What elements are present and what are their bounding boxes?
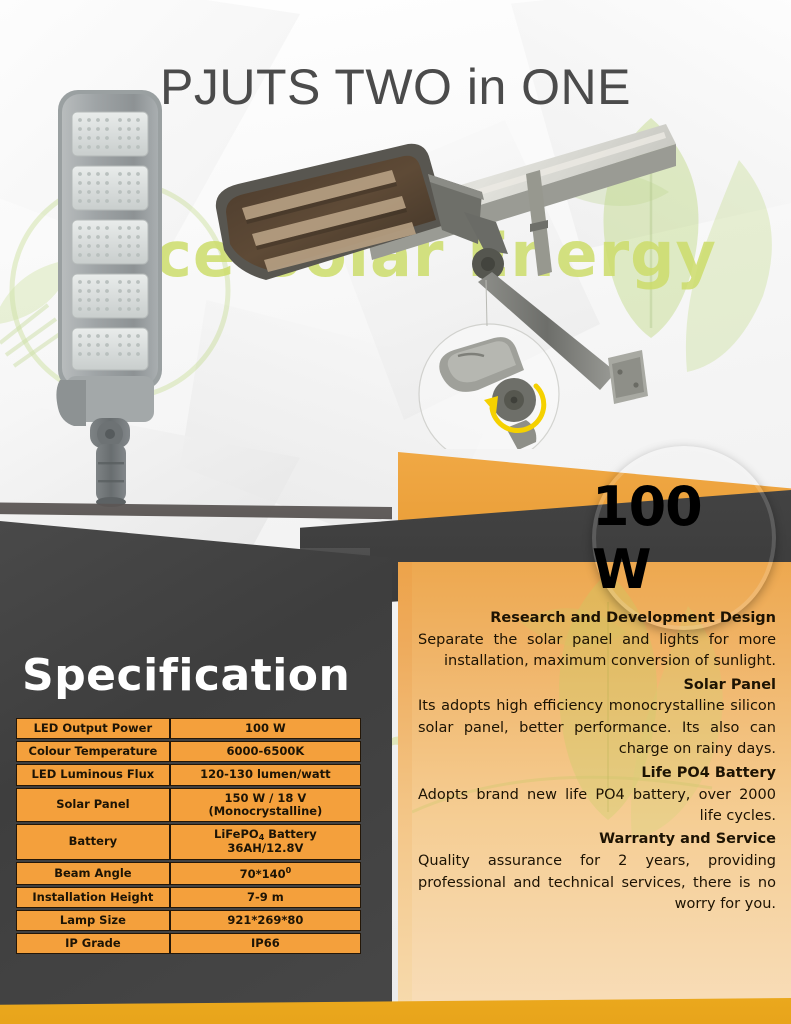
specification-table-body: LED Output Power100 WColour Temperature6… bbox=[16, 718, 361, 954]
table-row: Colour Temperature6000-6500K bbox=[16, 741, 361, 762]
spec-key: Beam Angle bbox=[16, 862, 170, 885]
feature-heading: Warranty and Service bbox=[418, 829, 776, 851]
feature-body: Adopts brand new life PO4 battery, over … bbox=[418, 785, 776, 828]
table-row: Solar Panel150 W / 18 V (Monocrystalline… bbox=[16, 788, 361, 822]
spec-value: 120-130 lumen/watt bbox=[170, 764, 361, 785]
spec-key: LED Output Power bbox=[16, 718, 170, 739]
spec-value: 100 W bbox=[170, 718, 361, 739]
table-row: Beam Angle70*1400 bbox=[16, 862, 361, 885]
spec-key: Installation Height bbox=[16, 887, 170, 908]
street-light-product-image bbox=[42, 84, 178, 514]
feature-heading: Solar Panel bbox=[418, 675, 776, 697]
feature-heading: Life PO4 Battery bbox=[418, 763, 776, 785]
spec-value: 921*269*80 bbox=[170, 910, 361, 931]
spec-key: Battery bbox=[16, 824, 170, 859]
spec-key: Solar Panel bbox=[16, 788, 170, 822]
page-title: PJUTS TWO in ONE bbox=[0, 58, 791, 116]
table-row: Lamp Size921*269*80 bbox=[16, 910, 361, 931]
wattage-badge-label: 100 W bbox=[592, 475, 776, 601]
spec-value: IP66 bbox=[170, 933, 361, 954]
spec-key: Colour Temperature bbox=[16, 741, 170, 762]
datasheet-page: Nice Solar Energy PJUTS TWO in ONE bbox=[0, 0, 791, 1024]
table-row: IP GradeIP66 bbox=[16, 933, 361, 954]
spec-key: Lamp Size bbox=[16, 910, 170, 931]
spec-key: IP Grade bbox=[16, 933, 170, 954]
wattage-badge: 100 W bbox=[592, 446, 776, 630]
spec-value: 150 W / 18 V (Monocrystalline) bbox=[170, 788, 361, 822]
table-row: LED Luminous Flux120-130 lumen/watt bbox=[16, 764, 361, 785]
spec-value: 70*1400 bbox=[170, 862, 361, 885]
spec-value: 7-9 m bbox=[170, 887, 361, 908]
specification-table: LED Output Power100 WColour Temperature6… bbox=[16, 716, 361, 956]
feature-body: Its adopts high efficiency monocrystalli… bbox=[418, 696, 776, 760]
specification-heading: Specification bbox=[22, 650, 350, 701]
features-copy: Research and Development DesignSeparate … bbox=[412, 608, 784, 918]
feature-body: Quality assurance for 2 years, providing… bbox=[418, 851, 776, 915]
table-row: Installation Height7-9 m bbox=[16, 887, 361, 908]
solar-assembly-product-image bbox=[196, 104, 676, 449]
table-row: LED Output Power100 W bbox=[16, 718, 361, 739]
spec-value: LiFePO4 Battery 36AH/12.8V bbox=[170, 824, 361, 859]
spec-value: 6000-6500K bbox=[170, 741, 361, 762]
feature-body: Separate the solar panel and lights for … bbox=[418, 630, 776, 673]
table-row: BatteryLiFePO4 Battery 36AH/12.8V bbox=[16, 824, 361, 859]
feature-heading: Research and Development Design bbox=[418, 608, 776, 630]
spec-key: LED Luminous Flux bbox=[16, 764, 170, 785]
